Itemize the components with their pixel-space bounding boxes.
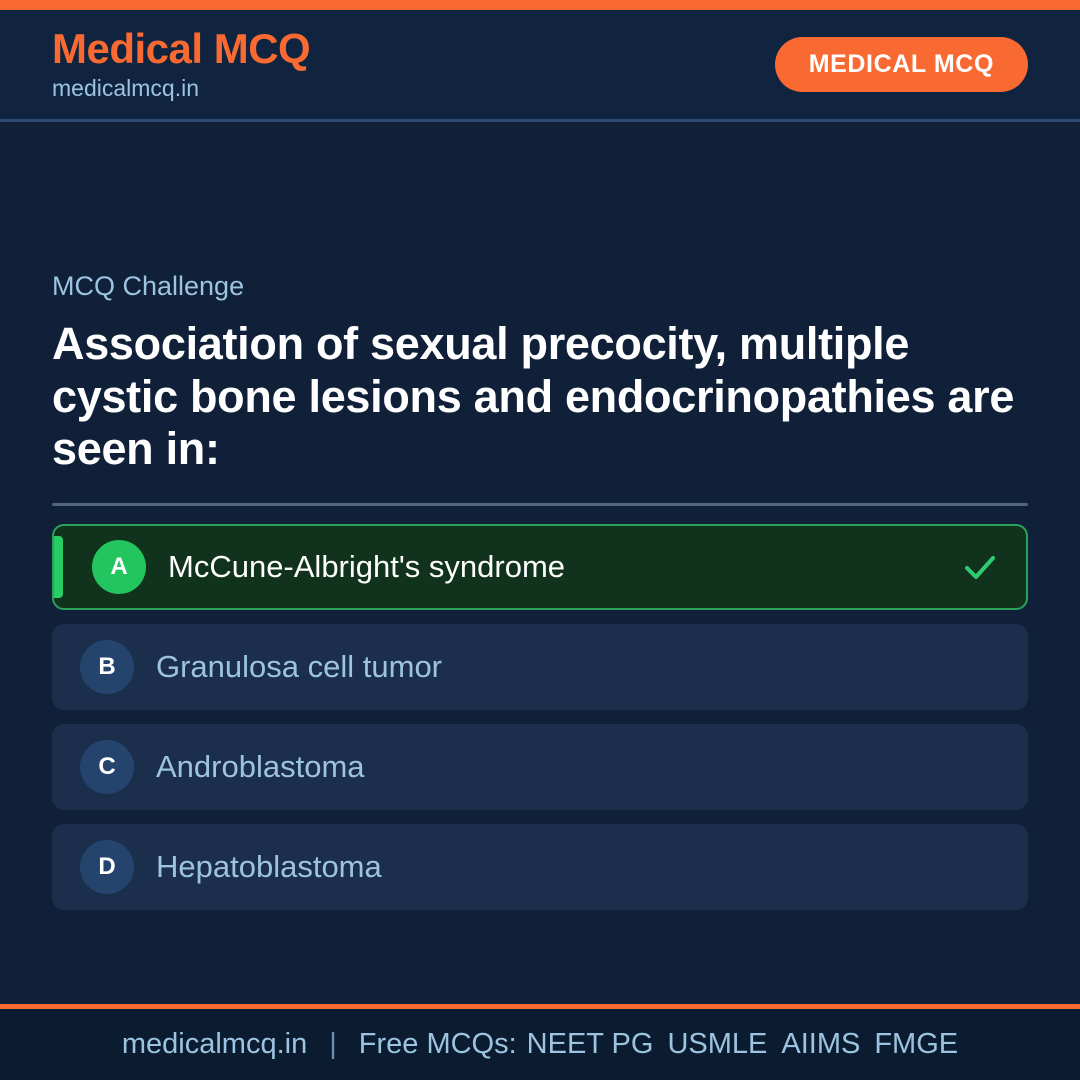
option-b[interactable]: B Granulosa cell tumor [52, 624, 1028, 710]
brand-title: Medical MCQ [52, 27, 310, 71]
question-divider [52, 503, 1028, 506]
top-accent-bar [0, 0, 1080, 10]
check-icon [960, 547, 1000, 587]
header-badge: MEDICAL MCQ [775, 37, 1028, 92]
brand-block: Medical MCQ medicalmcq.in [52, 27, 310, 101]
options-list: A McCune-Albright's syndrome B Granulosa… [52, 524, 1028, 910]
option-d-label: Hepatoblastoma [156, 848, 1002, 885]
footer-exam-usmle: USMLE [667, 1028, 767, 1061]
footer-site: medicalmcq.in [122, 1028, 307, 1061]
option-c-badge: C [80, 740, 134, 794]
option-d[interactable]: D Hepatoblastoma [52, 824, 1028, 910]
footer-separator: | [329, 1028, 337, 1061]
option-a[interactable]: A McCune-Albright's syndrome [52, 524, 1028, 610]
main-content: MCQ Challenge Association of sexual prec… [0, 122, 1080, 1004]
brand-subtitle: medicalmcq.in [52, 76, 310, 101]
footer-text: medicalmcq.in | Free MCQs: NEET PG USMLE… [122, 1028, 958, 1061]
footer-label: Free MCQs: [359, 1028, 517, 1061]
footer-exam-neetpg: NEET PG [527, 1028, 654, 1061]
option-b-label: Granulosa cell tumor [156, 648, 1002, 685]
option-c-label: Androblastoma [156, 748, 1002, 785]
option-a-badge: A [92, 540, 146, 594]
mcq-card: Medical MCQ medicalmcq.in MEDICAL MCQ MC… [0, 0, 1080, 1080]
footer: medicalmcq.in | Free MCQs: NEET PG USMLE… [0, 1004, 1080, 1080]
option-c[interactable]: C Androblastoma [52, 724, 1028, 810]
eyebrow-label: MCQ Challenge [52, 270, 1028, 302]
option-d-badge: D [80, 840, 134, 894]
option-b-badge: B [80, 640, 134, 694]
footer-exam-aiims: AIIMS [781, 1028, 860, 1061]
header: Medical MCQ medicalmcq.in MEDICAL MCQ [0, 10, 1080, 122]
option-a-label: McCune-Albright's syndrome [168, 548, 948, 585]
footer-exam-fmge: FMGE [874, 1028, 958, 1061]
question-text: Association of sexual precocity, multipl… [52, 318, 1028, 475]
